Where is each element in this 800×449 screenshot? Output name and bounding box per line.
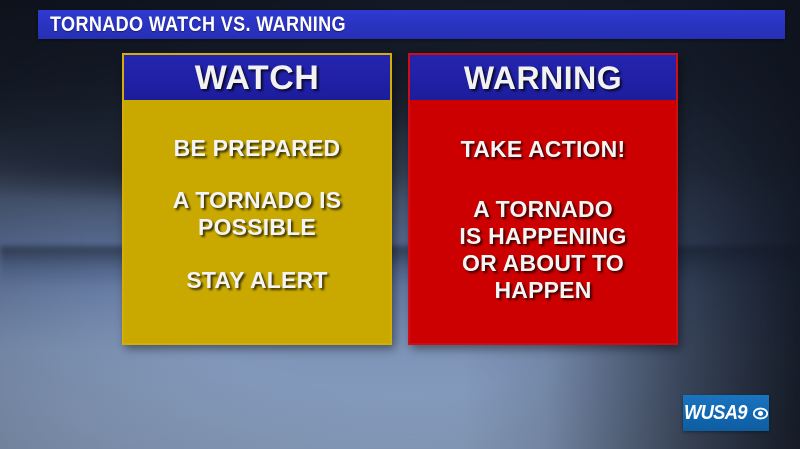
watch-panel: WATCH BE PREPARED A TORNADO IS POSSIBLE … bbox=[122, 53, 392, 345]
warning-panel-body: TAKE ACTION! A TORNADO IS HAPPENING OR A… bbox=[410, 100, 676, 343]
warning-line-3: OR ABOUT TO bbox=[462, 250, 624, 277]
weather-graphic-screen: TORNADO WATCH VS. WARNING WATCH BE PREPA… bbox=[0, 0, 800, 449]
watch-line-3: STAY ALERT bbox=[186, 267, 327, 294]
station-logo-inner: WUSA9 bbox=[684, 403, 767, 423]
warning-lead-line: TAKE ACTION! bbox=[461, 136, 626, 163]
warning-panel-header: WARNING bbox=[410, 55, 676, 100]
station-logo-text: WUSA9 bbox=[684, 403, 747, 423]
warning-header-label: WARNING bbox=[464, 62, 622, 94]
watch-panel-body: BE PREPARED A TORNADO IS POSSIBLE STAY A… bbox=[124, 100, 390, 343]
warning-line-1: A TORNADO bbox=[473, 196, 613, 223]
warning-line-2: IS HAPPENING bbox=[459, 223, 626, 250]
title-bar: TORNADO WATCH VS. WARNING bbox=[38, 10, 785, 39]
watch-panel-header: WATCH bbox=[124, 55, 390, 100]
station-logo: WUSA9 bbox=[683, 395, 769, 431]
cbs-eye-icon bbox=[753, 406, 768, 421]
page-title: TORNADO WATCH VS. WARNING bbox=[50, 13, 346, 37]
warning-line-4: HAPPEN bbox=[494, 277, 591, 304]
watch-line-2: A TORNADO IS POSSIBLE bbox=[134, 187, 380, 240]
warning-panel: WARNING TAKE ACTION! A TORNADO IS HAPPEN… bbox=[408, 53, 678, 345]
watch-line-1: BE PREPARED bbox=[174, 135, 341, 162]
watch-header-label: WATCH bbox=[195, 61, 320, 95]
